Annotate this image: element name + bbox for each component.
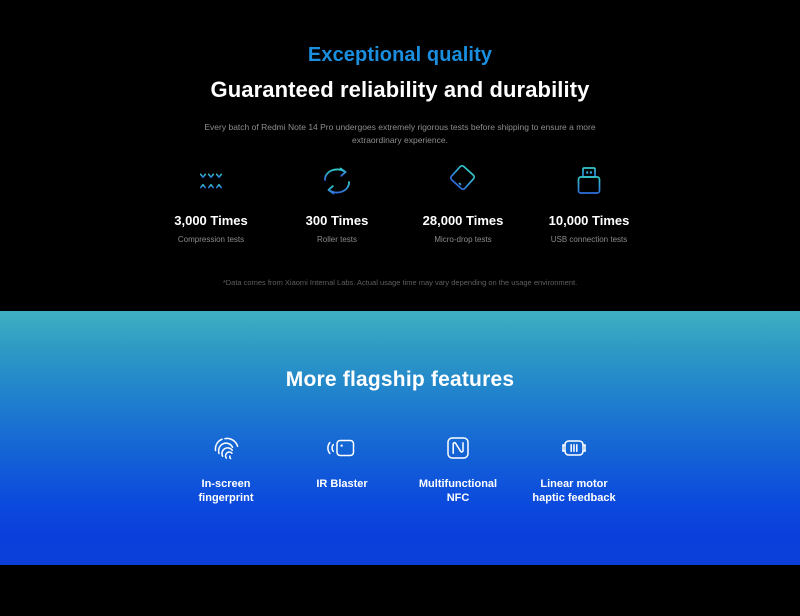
durability-stats-row: 3,000 Times Compression tests: [0, 160, 800, 244]
stat-value: 300 Times: [306, 213, 369, 228]
micro-drop-icon: [443, 160, 483, 202]
stat-label: USB connection tests: [551, 235, 627, 244]
ir-blaster-icon: [326, 431, 358, 465]
page-title: Guaranteed reliability and durability: [0, 77, 800, 103]
flagship-title: More flagship features: [0, 311, 800, 392]
stat-label: Roller tests: [317, 235, 357, 244]
footer-section: [0, 565, 800, 616]
feature-label: Multifunctional NFC: [419, 478, 497, 506]
section-subcopy: Every batch of Redmi Note 14 Pro undergo…: [195, 121, 605, 147]
usb-connector-icon: [569, 160, 609, 202]
feature-label: Linear motor haptic feedback: [532, 478, 615, 506]
stat-value: 28,000 Times: [423, 213, 504, 228]
flagship-features-row: In-screen fingerprint IR Blaster: [0, 431, 800, 506]
feature-label: In-screen fingerprint: [199, 478, 254, 506]
stat-compression: 3,000 Times Compression tests: [148, 160, 274, 244]
linear-motor-icon: [557, 431, 591, 465]
product-page: Exceptional quality Guaranteed reliabili…: [0, 0, 800, 616]
stat-roller: 300 Times Roller tests: [274, 160, 400, 244]
nfc-icon: [443, 431, 473, 465]
stat-usb: 10,000 Times USB connection tests: [526, 160, 652, 244]
stat-label: Compression tests: [178, 235, 244, 244]
feature-ir-blaster: IR Blaster: [284, 431, 400, 506]
fingerprint-icon: [211, 431, 241, 465]
feature-linear-motor: Linear motor haptic feedback: [516, 431, 632, 506]
feature-in-screen-fingerprint: In-screen fingerprint: [168, 431, 284, 506]
stat-value: 3,000 Times: [174, 213, 247, 228]
feature-nfc: Multifunctional NFC: [400, 431, 516, 506]
stat-label: Micro-drop tests: [434, 235, 491, 244]
data-disclaimer: *Data comes from Xiaomi Internal Labs. A…: [0, 278, 800, 287]
flagship-features-section: More flagship features In-screen fingerp…: [0, 311, 800, 565]
quality-section: Exceptional quality Guaranteed reliabili…: [0, 0, 800, 311]
roller-icon: [317, 160, 357, 202]
compression-icon: [191, 160, 231, 202]
stat-value: 10,000 Times: [549, 213, 630, 228]
stat-micro-drop: 28,000 Times Micro-drop tests: [400, 160, 526, 244]
feature-label: IR Blaster: [316, 478, 367, 492]
section-eyebrow: Exceptional quality: [0, 44, 800, 67]
